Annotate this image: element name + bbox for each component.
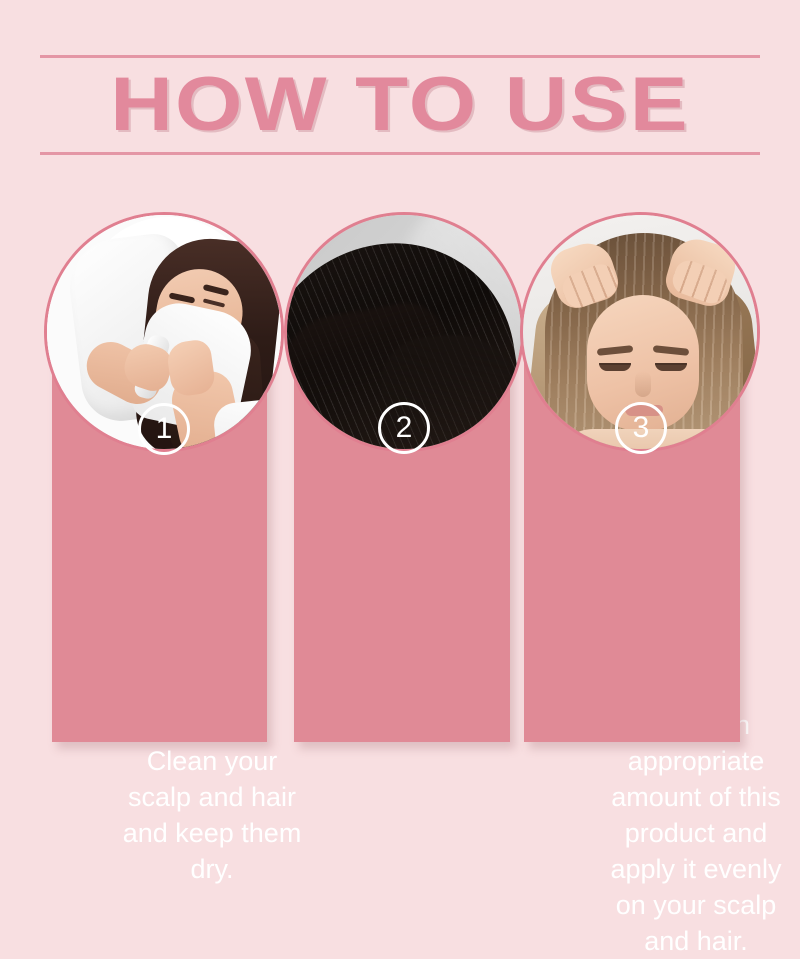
step-number-badge-3: 3: [615, 402, 667, 454]
step-number-badge-2: 2: [378, 402, 430, 454]
step-caption-1: Clean your scalp and hair and keep them …: [112, 743, 312, 887]
step-number-badge-1: 1: [138, 403, 190, 455]
steps-container: Clean your scalp and hair and keep them …: [0, 0, 800, 800]
step-caption-2: Spray an appropriate amount of this prod…: [594, 707, 798, 959]
